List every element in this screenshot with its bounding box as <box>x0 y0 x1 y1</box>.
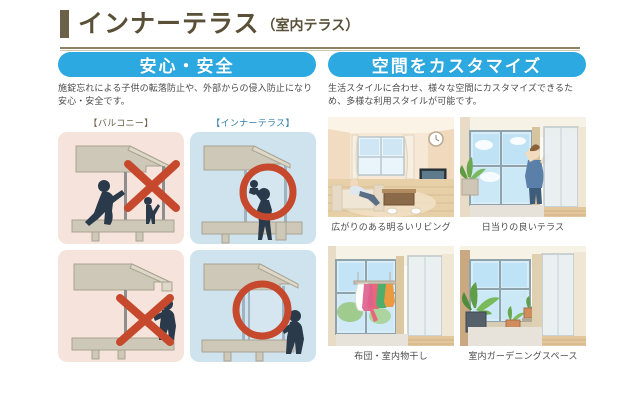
infographic-page: インナーテラス （室内テラス） 安心・安全 施錠忘れによる子供の転落防止や、外部… <box>0 0 640 408</box>
photo-caption-sunny-terrace: 日当りの良いテラス <box>460 220 586 233</box>
label-balcony: 【バルコニー】 <box>58 116 184 129</box>
photo-indoor-laundry <box>328 246 454 346</box>
section-safety: 安心・安全 施錠忘れによる子供の転落防止や、外部からの侵入防止になり安心・安全で… <box>58 52 316 362</box>
section-customize: 空間をカスタマイズ 生活スタイルに合わせ、様々な空間にカスタマイズできるため、多… <box>328 52 586 362</box>
living-room-illustration <box>328 117 454 217</box>
photo-caption-living-room: 広がりのある明るいリビング <box>328 220 454 233</box>
section-safety-body: 施錠忘れによる子供の転落防止や、外部からの侵入防止になり安心・安全です。 <box>58 83 316 109</box>
section-customize-body: 生活スタイルに合わせ、様々な空間にカスタマイズできるため、多様な利用スタイルが可… <box>328 83 586 109</box>
diagram-panel-inner-terrace-intruder-blocked <box>190 250 316 362</box>
photo-caption-indoor-garden: 室内ガーデニングスペース <box>460 349 586 362</box>
photo-living-room <box>328 117 454 217</box>
photo-cell-indoor-laundry: 布団・室内物干し <box>328 246 454 362</box>
photo-sunny-terrace <box>460 117 586 217</box>
photo-cell-indoor-garden: 室内ガーデニングスペース <box>460 246 586 362</box>
title-accent-bar <box>60 10 69 38</box>
label-inner-terrace: 【インナーテラス】 <box>190 116 316 129</box>
photo-cell-living-room: 広がりのある明るいリビング <box>328 117 454 233</box>
section-customize-heading: 空間をカスタマイズ <box>328 52 586 77</box>
photo-grid: 広がりのある明るいリビング <box>328 117 586 362</box>
sunny-terrace-illustration <box>460 117 586 217</box>
page-title-subtitle: （室内テラス） <box>262 16 360 38</box>
title-divider <box>60 47 580 49</box>
diagram-panel-inner-terrace-child-safe <box>190 132 316 244</box>
inner-terrace-child-safe-illustration <box>190 132 316 244</box>
diagram-panel-balcony-child-fall <box>58 132 184 244</box>
photo-indoor-garden <box>460 246 586 346</box>
balcony-intruder-illustration <box>58 250 184 362</box>
photo-cell-sunny-terrace: 日当りの良いテラス <box>460 117 586 233</box>
indoor-garden-illustration <box>460 246 586 346</box>
photo-caption-indoor-laundry: 布団・室内物干し <box>328 349 454 362</box>
title-divider-light <box>60 50 580 51</box>
balcony-child-fall-illustration <box>58 132 184 244</box>
diagram-grid <box>58 132 316 362</box>
inner-terrace-intruder-blocked-illustration <box>190 250 316 362</box>
indoor-laundry-illustration <box>328 246 454 346</box>
diagram-labels: 【バルコニー】 【インナーテラス】 <box>58 116 316 129</box>
section-safety-heading: 安心・安全 <box>58 52 316 77</box>
diagram-panel-balcony-intruder <box>58 250 184 362</box>
page-title: インナーテラス <box>78 9 260 38</box>
page-title-block: インナーテラス （室内テラス） <box>60 8 580 38</box>
